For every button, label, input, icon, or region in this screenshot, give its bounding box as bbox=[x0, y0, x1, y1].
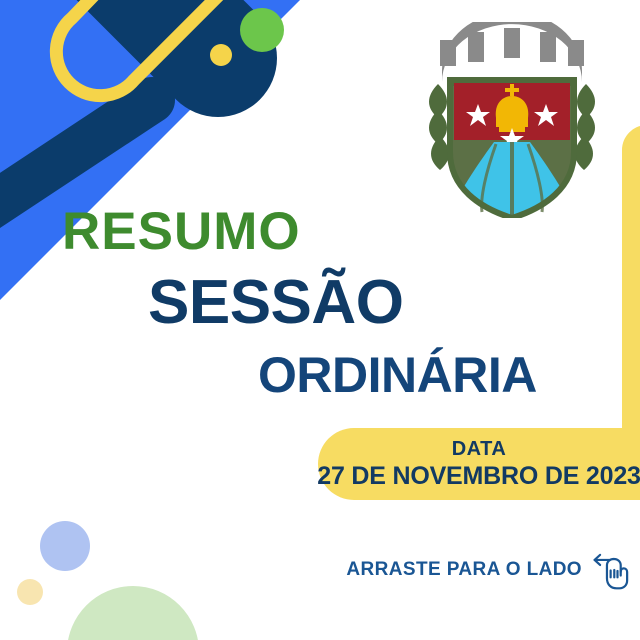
lavender-circle-decoration bbox=[40, 521, 90, 571]
coat-of-arms-emblem bbox=[424, 22, 600, 218]
date-banner: DATA 27 DE NOVEMBRO DE 2023 bbox=[318, 428, 640, 500]
page-title-sessao: SESSÃO bbox=[0, 272, 640, 334]
swipe-hint[interactable]: ARRASTE PARA O LADO bbox=[346, 548, 634, 592]
page-title-resumo: RESUMO bbox=[0, 205, 640, 258]
mural-crown-icon bbox=[440, 22, 584, 82]
swipe-hand-icon bbox=[590, 548, 634, 592]
pale-yellow-dot-decoration bbox=[17, 579, 43, 605]
yellow-dot-decoration bbox=[210, 44, 232, 66]
green-circle-decoration bbox=[240, 8, 284, 52]
poster-canvas: RESUMO SESSÃO ORDINÁRIA DATA 27 DE NOVEM… bbox=[0, 0, 640, 640]
page-title-ordinaria: ORDINÁRIA bbox=[0, 350, 640, 400]
swipe-hint-label: ARRASTE PARA O LADO bbox=[346, 559, 582, 581]
pale-green-circle-decoration bbox=[67, 586, 199, 640]
headline-block: RESUMO SESSÃO ORDINÁRIA bbox=[0, 205, 640, 400]
date-label: DATA bbox=[452, 438, 507, 460]
date-value: 27 DE NOVEMBRO DE 2023 bbox=[317, 462, 640, 491]
